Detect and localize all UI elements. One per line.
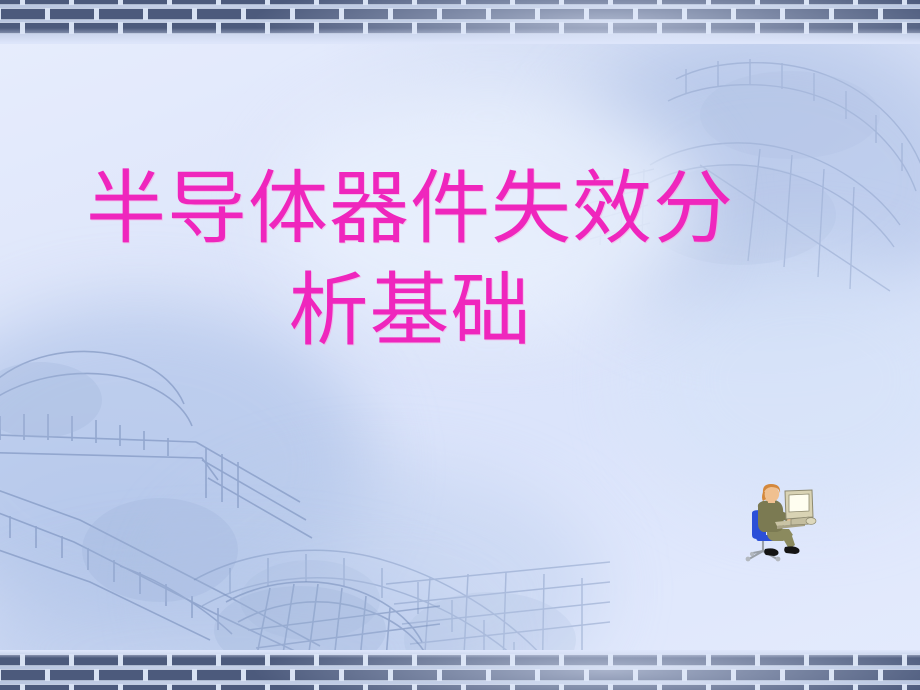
- presentation-slide: 半导体器件失效分析基础: [0, 0, 920, 690]
- slide-title: 半导体器件失效分析基础: [60, 158, 760, 363]
- top-brick-border: [0, 0, 920, 44]
- person-at-computer-icon: [733, 479, 819, 563]
- bottom-brick-border: [0, 650, 920, 690]
